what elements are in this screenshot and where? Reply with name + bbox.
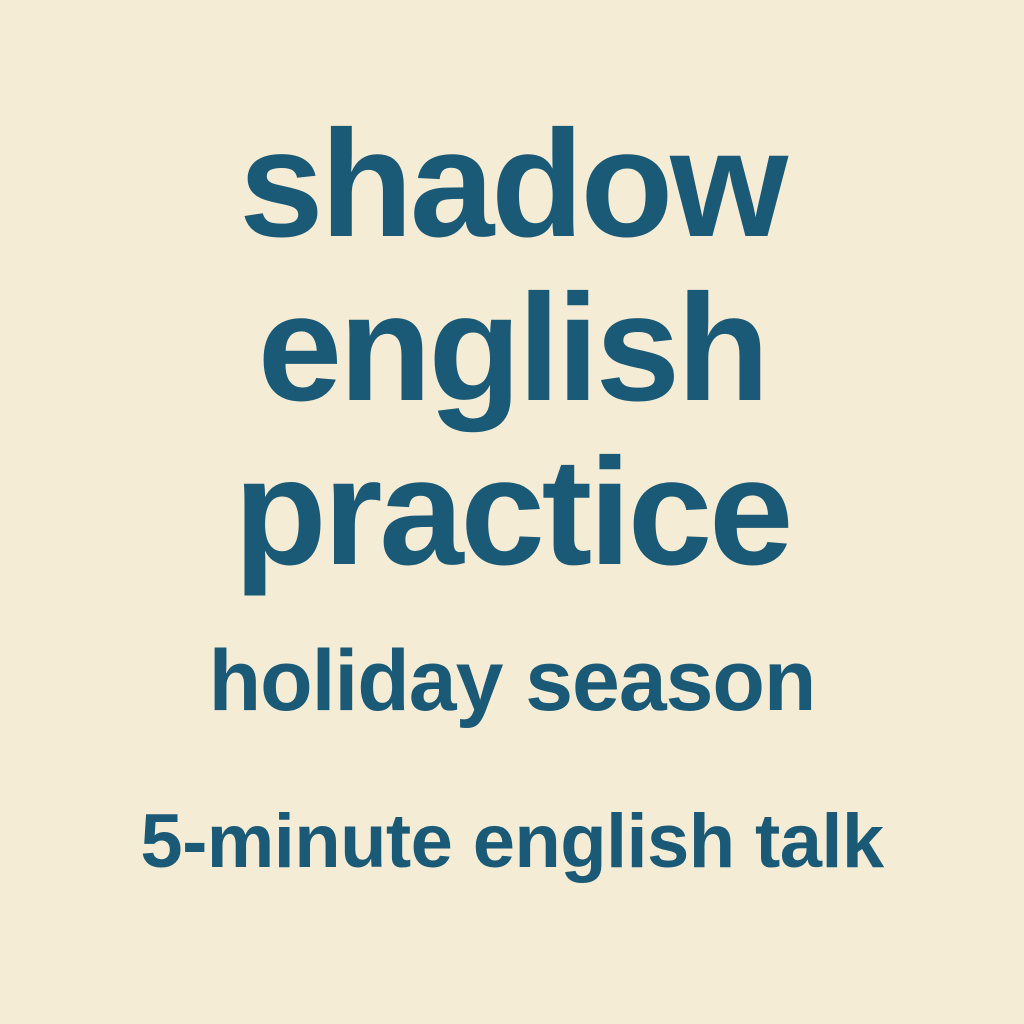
headline-line-1: shadow <box>0 108 1024 260</box>
tagline-text: 5-minute english talk <box>0 804 1024 880</box>
headline-line-3: practice <box>0 436 1024 588</box>
headline-line-2: english <box>0 272 1024 424</box>
poster-canvas: shadow english practice holiday season 5… <box>0 0 1024 1024</box>
subhead-text: holiday season <box>0 638 1024 724</box>
